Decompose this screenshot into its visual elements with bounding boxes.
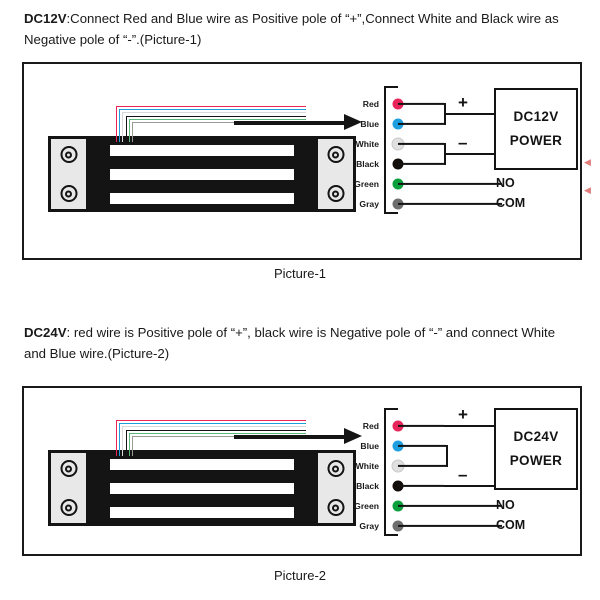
terminal-lead <box>398 505 502 507</box>
lock-bracket-left <box>51 139 89 209</box>
output-label-no: NO <box>496 498 515 512</box>
dc12v-label: DC12V <box>24 11 67 26</box>
terminal-lead <box>398 425 444 427</box>
wiring-instruction-sheet: DC12V:Connect Red and Blue wire as Posit… <box>0 0 600 600</box>
terminal-lead <box>398 525 502 527</box>
red-mark-icon: ◀ <box>584 186 591 195</box>
power-feed-line <box>444 425 494 427</box>
terminal-row: Green <box>384 174 410 194</box>
dc24v-instruction-text: DC24V: red wire is Positive pole of “+”,… <box>24 322 580 364</box>
terminal-block-2: RedBlueWhiteBlackGreenGray+–NOCOM <box>384 408 410 536</box>
screw-icon <box>327 460 344 477</box>
direction-arrow-2 <box>234 432 362 441</box>
negative-sign: – <box>458 466 467 483</box>
terminal-row: Gray <box>384 194 410 214</box>
terminal-label: White <box>356 461 379 471</box>
core-stripe <box>110 193 294 204</box>
negative-sign: – <box>458 134 467 151</box>
core-stripe <box>110 483 294 494</box>
terminal-label: Red <box>363 421 379 431</box>
terminal-label: Blue <box>360 119 379 129</box>
terminal-lead <box>398 183 502 185</box>
terminal-label: Black <box>356 481 379 491</box>
terminal-row: Red <box>384 94 410 114</box>
screw-icon <box>327 146 344 163</box>
picture-2-caption: Picture-2 <box>0 568 600 583</box>
terminal-row: White <box>384 456 410 476</box>
terminal-row: Green <box>384 496 410 516</box>
power-word: POWER <box>510 449 563 473</box>
terminal-lead <box>398 123 444 125</box>
output-label-com: COM <box>496 196 525 210</box>
positive-sign: + <box>458 406 468 423</box>
terminal-label: Gray <box>359 199 379 209</box>
terminal-label: Red <box>363 99 379 109</box>
lock-bracket-right <box>315 453 353 523</box>
power-supply-1: DC12V POWER <box>494 88 578 170</box>
terminal-lead <box>398 485 444 487</box>
lock-bracket-left <box>51 453 89 523</box>
core-stripe <box>110 145 294 156</box>
terminal-row: White <box>384 134 410 154</box>
maglock-body-1 <box>48 136 356 212</box>
terminal-lead <box>398 143 444 145</box>
power-feed-line <box>444 153 494 155</box>
core-stripe <box>110 507 294 518</box>
lock-bracket-right <box>315 139 353 209</box>
core-stripe <box>110 459 294 470</box>
output-label-com: COM <box>496 518 525 532</box>
output-label-no: NO <box>496 176 515 190</box>
linked-pair-bridge <box>446 445 448 467</box>
terminal-row: Red <box>384 416 410 436</box>
dc24v-label: DC24V <box>24 325 67 340</box>
terminal-lead <box>398 445 446 447</box>
terminal-label: White <box>356 139 379 149</box>
terminal-row: Black <box>384 154 410 174</box>
picture-2-panel: RedBlueWhiteBlackGreenGray+–NOCOM DC24V … <box>22 386 582 556</box>
terminal-label: Green <box>354 179 379 189</box>
terminal-row: Blue <box>384 114 410 134</box>
screw-icon <box>327 499 344 516</box>
screw-icon <box>60 185 77 202</box>
terminal-lead <box>398 465 446 467</box>
screw-icon <box>60 460 77 477</box>
power-supply-2: DC24V POWER <box>494 408 578 490</box>
dc24v-instruction-body: : red wire is Positive pole of “+”, blac… <box>24 325 555 361</box>
power-feed-line <box>444 113 494 115</box>
terminal-lead <box>398 103 444 105</box>
terminal-row: Black <box>384 476 410 496</box>
screw-icon <box>327 185 344 202</box>
terminal-row: Gray <box>384 516 410 536</box>
terminal-row: Blue <box>384 436 410 456</box>
terminal-lead <box>398 163 444 165</box>
terminal-label: Blue <box>360 441 379 451</box>
positive-sign: + <box>458 94 468 111</box>
power-voltage: DC24V <box>513 425 558 449</box>
screw-icon <box>60 499 77 516</box>
power-voltage: DC12V <box>513 105 558 129</box>
terminal-block-1: RedBlueWhiteBlackGreenGray+–NOCOM <box>384 86 410 214</box>
screw-icon <box>60 146 77 163</box>
core-stripe <box>110 169 294 180</box>
power-feed-line <box>444 485 494 487</box>
power-word: POWER <box>510 129 563 153</box>
direction-arrow-1 <box>234 118 362 127</box>
maglock-body-2 <box>48 450 356 526</box>
lock-core <box>89 453 315 523</box>
terminal-label: Green <box>354 501 379 511</box>
red-mark-icon: ◀ <box>584 158 591 167</box>
terminal-label: Black <box>356 159 379 169</box>
terminal-label: Gray <box>359 521 379 531</box>
dc12v-instruction-body: :Connect Red and Blue wire as Positive p… <box>24 11 559 47</box>
dc12v-instruction-text: DC12V:Connect Red and Blue wire as Posit… <box>24 8 580 50</box>
picture-1-panel: RedBlueWhiteBlackGreenGray+–NOCOM DC12V … <box>22 62 582 260</box>
picture-1-caption: Picture-1 <box>0 266 600 281</box>
terminal-lead <box>398 203 502 205</box>
lock-core <box>89 139 315 209</box>
